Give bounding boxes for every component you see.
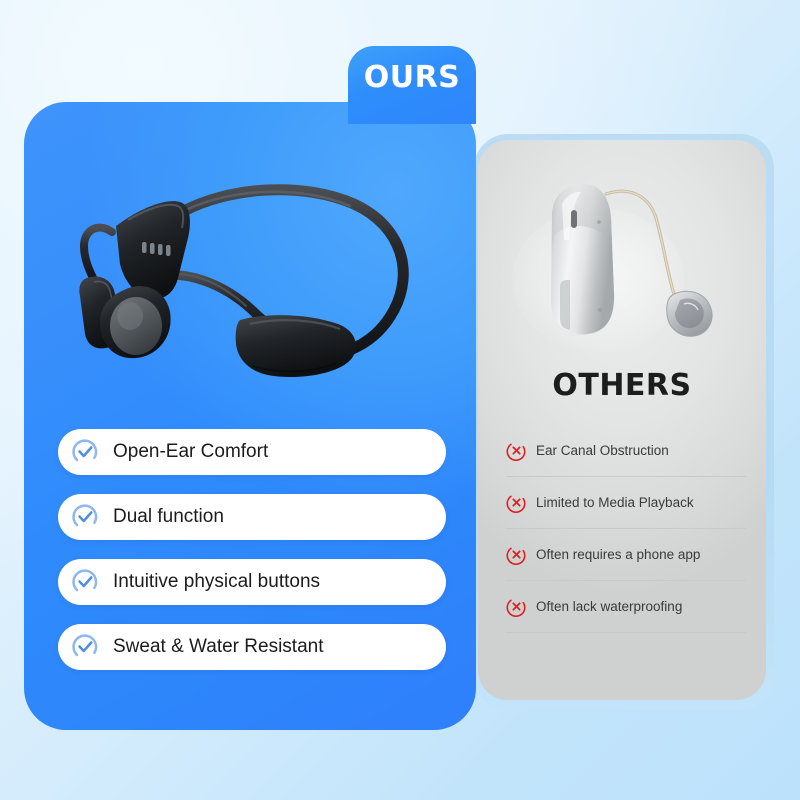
x-circle-icon (506, 544, 527, 565)
others-title: OTHERS (478, 368, 766, 403)
hearing-aid-image (478, 170, 766, 370)
x-circle-icon (506, 492, 527, 513)
list-item: Often requires a phone app (506, 529, 746, 581)
list-item-label: Often requires a phone app (536, 547, 700, 562)
check-circle-icon (70, 567, 100, 597)
list-item-label: Open-Ear Comfort (113, 441, 268, 463)
check-circle-icon (70, 502, 100, 532)
list-item-label: Ear Canal Obstruction (536, 443, 669, 458)
x-circle-icon (506, 596, 527, 617)
list-item: Often lack waterproofing (506, 581, 746, 633)
check-circle-icon (70, 632, 100, 662)
ours-card: Open-Ear Comfort Dual function Intuitive… (24, 102, 476, 730)
headphones-image (54, 160, 454, 410)
ours-tab-label: OURS (364, 60, 461, 95)
x-circle-icon (506, 440, 527, 461)
list-item: Open-Ear Comfort (58, 429, 446, 475)
ours-tab: OURS (348, 46, 476, 124)
others-card: OTHERS Ear Canal Obstruction Limited to … (478, 140, 766, 700)
list-item: Ear Canal Obstruction (506, 425, 746, 477)
list-item: Limited to Media Playback (506, 477, 746, 529)
comparison-infographic: OURS (0, 0, 800, 800)
list-item-label: Dual function (113, 506, 224, 528)
list-item-label: Limited to Media Playback (536, 495, 694, 510)
list-item: Intuitive physical buttons (58, 559, 446, 605)
check-circle-icon (70, 437, 100, 467)
ours-feature-list: Open-Ear Comfort Dual function Intuitive… (58, 429, 446, 689)
list-item-label: Sweat & Water Resistant (113, 636, 323, 658)
list-item: Sweat & Water Resistant (58, 624, 446, 670)
list-item-label: Often lack waterproofing (536, 599, 682, 614)
others-drawback-list: Ear Canal Obstruction Limited to Media P… (506, 425, 746, 633)
list-item: Dual function (58, 494, 446, 540)
list-item-label: Intuitive physical buttons (113, 571, 320, 593)
